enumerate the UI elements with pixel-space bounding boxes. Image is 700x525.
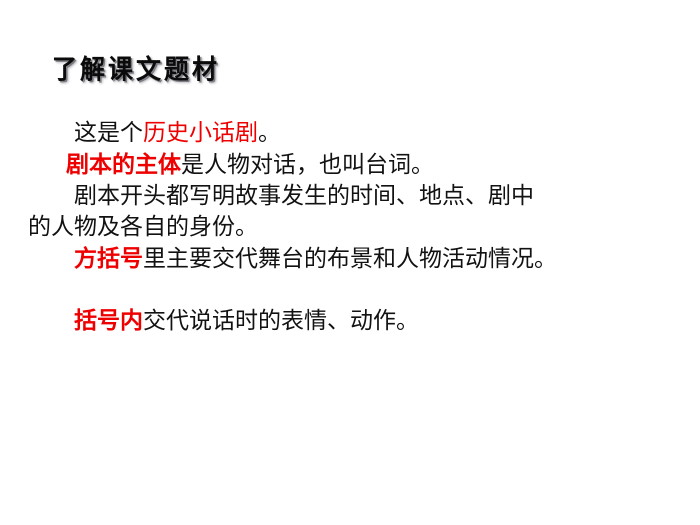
highlighted-term: 剧本的主体: [66, 151, 181, 178]
slide-body-text: 这是个历史小话剧。剧本的主体是人物对话，也叫台词。剧本开头都写明故事发生的时间、…: [28, 118, 680, 337]
presentation-slide: 了解课文题材 这是个历史小话剧。剧本的主体是人物对话，也叫台词。剧本开头都写明故…: [0, 0, 700, 525]
body-line: 这是个历史小话剧。: [28, 118, 680, 149]
body-line: 方括号里主要交代舞台的布景和人物活动情况。: [28, 243, 680, 275]
body-text-segment: 是人物对话，也叫台词。: [181, 152, 434, 178]
body-line: 剧本的主体是人物对话，也叫台词。: [28, 149, 680, 181]
highlighted-term: 括号内: [74, 307, 143, 334]
body-text-segment: 剧本开头都写明故事发生的时间、地点、剧中: [74, 183, 534, 209]
body-line: 括号内交代说话时的表情、动作。: [28, 305, 680, 337]
body-text-segment: 里主要交代舞台的布景和人物活动情况。: [143, 246, 557, 272]
body-line: 剧本开头都写明故事发生的时间、地点、剧中: [28, 181, 680, 212]
highlighted-term: 方括号: [74, 245, 143, 272]
body-text-segment: 。: [258, 120, 281, 146]
body-line: 的人物及各自的身份。: [28, 212, 680, 243]
highlighted-term: 历史小话剧: [143, 120, 258, 146]
body-text-segment: 交代说话时的表情、动作。: [143, 308, 419, 334]
body-text-segment: 的人物及各自的身份。: [28, 214, 258, 240]
slide-content: 了解课文题材 这是个历史小话剧。剧本的主体是人物对话，也叫台词。剧本开头都写明故…: [0, 0, 700, 525]
body-line-spacer: [28, 275, 680, 305]
slide-title: 了解课文题材: [52, 55, 220, 85]
body-text-segment: 这是个: [74, 120, 143, 146]
